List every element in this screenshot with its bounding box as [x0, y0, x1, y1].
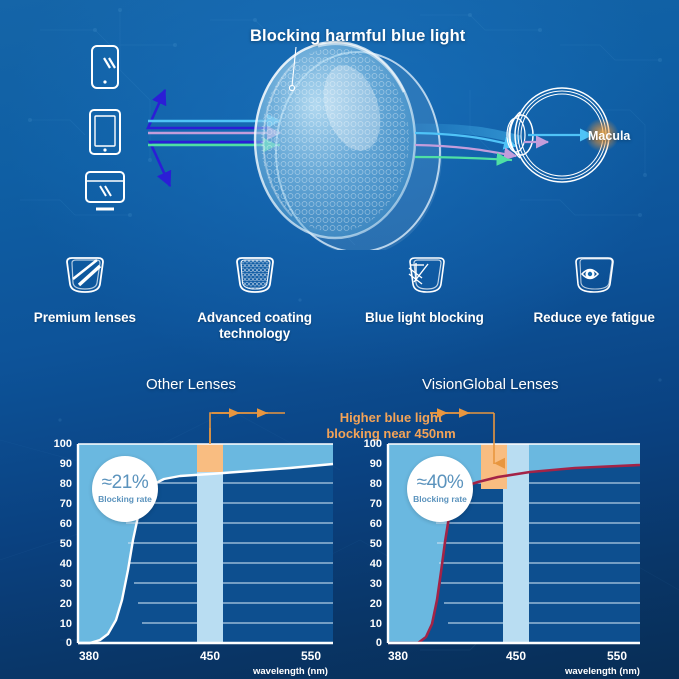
- y-tick-left-30: 30: [46, 578, 72, 590]
- x-tick-right-450: 450: [493, 649, 539, 663]
- y-tick-right-20: 20: [356, 598, 382, 610]
- y-tick-left-20: 20: [46, 598, 72, 610]
- feature-row: Premium lenses Advanced coating technolo…: [0, 252, 679, 357]
- y-tick-right-90: 90: [356, 458, 382, 470]
- y-tick-left-100: 100: [46, 438, 72, 450]
- blocked-blue-rays: [148, 90, 270, 186]
- feature-label: Advanced coating technology: [170, 310, 340, 343]
- hero-title: Blocking harmful blue light: [250, 27, 465, 46]
- premium-lens-icon: [59, 252, 111, 300]
- blocking-rate-label: Blocking rate: [98, 495, 152, 504]
- y-tick-right-100: 100: [356, 438, 382, 450]
- feature-label: Reduce eye fatigue: [534, 310, 655, 326]
- feature-blue-light-blocking: Blue light blocking: [340, 252, 510, 326]
- orange-marker-left: [197, 444, 223, 472]
- feature-reduce-eye-fatigue: Reduce eye fatigue: [509, 252, 679, 326]
- feature-label: Premium lenses: [34, 310, 136, 326]
- y-tick-left-50: 50: [46, 538, 72, 550]
- x-tick-left-550: 550: [288, 649, 334, 663]
- feature-premium-lenses: Premium lenses: [0, 252, 170, 326]
- blue-light-blocking-lens-icon: [398, 252, 450, 300]
- eye-fatigue-lens-icon: [568, 252, 620, 300]
- x-tick-right-550: 550: [594, 649, 640, 663]
- y-tick-right-40: 40: [356, 558, 382, 570]
- blocking-rate-label: Blocking rate: [413, 495, 467, 504]
- y-tick-right-50: 50: [356, 538, 382, 550]
- smartphone-icon: [92, 46, 118, 88]
- blocking-rate-value: ≈21%: [102, 473, 149, 492]
- y-tick-left-60: 60: [46, 518, 72, 530]
- y-tick-right-0: 0: [356, 637, 382, 649]
- charts-section: Other Lenses VisionGlobal Lenses Higher …: [0, 372, 679, 679]
- y-tick-left-40: 40: [46, 558, 72, 570]
- blocking-rate-badge-other: ≈21% Blocking rate: [92, 456, 158, 522]
- y-tick-right-70: 70: [356, 498, 382, 510]
- y-tick-left-0: 0: [46, 637, 72, 649]
- y-tick-left-80: 80: [46, 478, 72, 490]
- hero-illustration: Blocking harmful blue light Macula: [0, 0, 679, 250]
- blue-light-lens: [255, 42, 442, 250]
- y-tick-right-10: 10: [356, 618, 382, 630]
- y-tick-left-10: 10: [46, 618, 72, 630]
- blocking-rate-badge-visionglobal: ≈40% Blocking rate: [407, 456, 473, 522]
- coating-mesh-lens-icon: [229, 252, 281, 300]
- macula-label: Macula: [588, 129, 630, 143]
- charts-graphic: [0, 372, 679, 679]
- x-tick-left-380: 380: [66, 649, 112, 663]
- y-tick-left-90: 90: [46, 458, 72, 470]
- x-tick-right-380: 380: [375, 649, 421, 663]
- y-tick-right-60: 60: [356, 518, 382, 530]
- y-tick-right-30: 30: [356, 578, 382, 590]
- x-axis-caption-right: wavelength (nm): [565, 666, 640, 677]
- y-tick-right-80: 80: [356, 478, 382, 490]
- y-tick-left-70: 70: [46, 498, 72, 510]
- blocking-rate-value: ≈40%: [417, 473, 464, 492]
- x-tick-left-450: 450: [187, 649, 233, 663]
- tablet-icon: [90, 110, 120, 154]
- monitor-icon: [86, 172, 124, 209]
- feature-label: Blue light blocking: [365, 310, 484, 326]
- x-axis-caption-left: wavelength (nm): [253, 666, 328, 677]
- feature-advanced-coating: Advanced coating technology: [170, 252, 340, 343]
